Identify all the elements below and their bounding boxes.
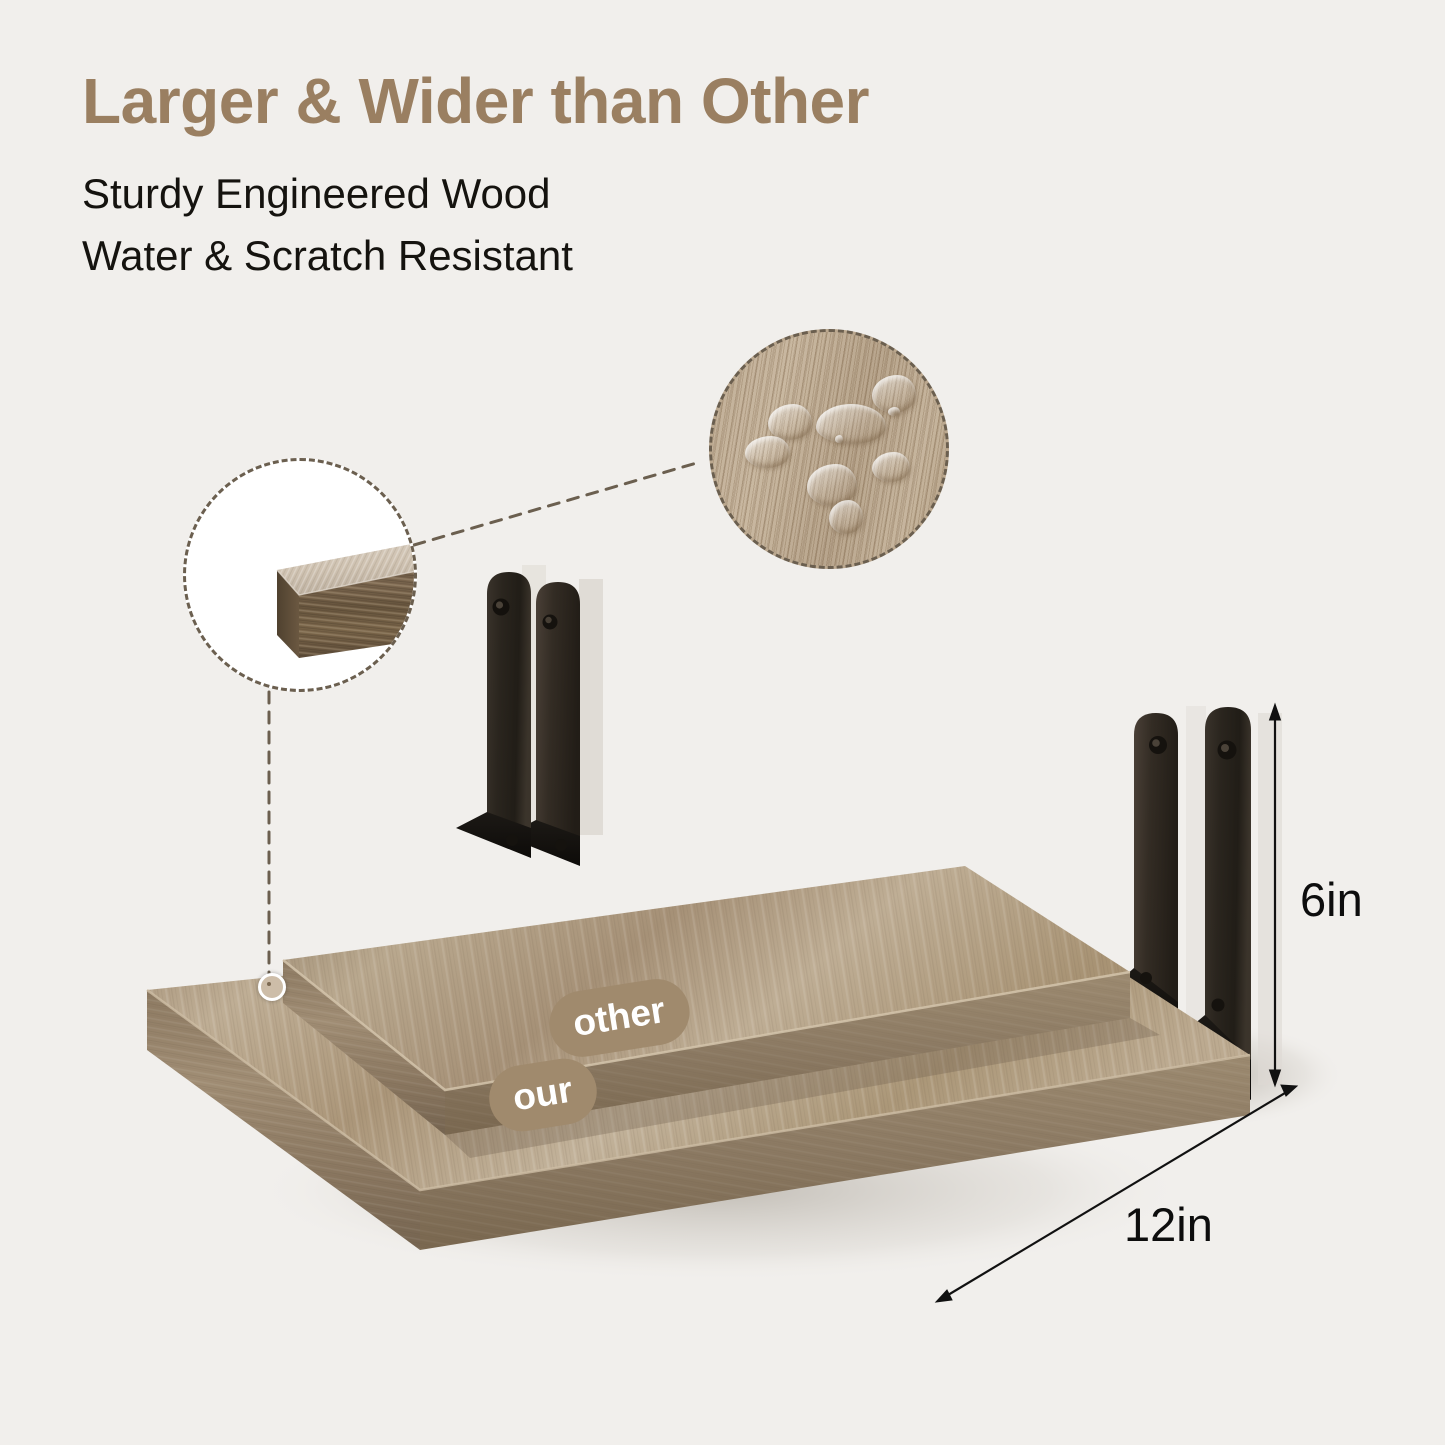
water-droplet [745,436,790,468]
callout-anchor-marker [258,973,286,1001]
water-droplet [816,404,886,444]
bracket-left-front [456,572,531,858]
water-droplet [888,407,900,416]
water-droplet [872,452,910,482]
water-droplet [829,500,863,534]
callout-water-clip [712,332,946,566]
callout-wood-edge-clip [186,461,414,689]
engineered-wood-edge-sample [241,523,414,663]
water-droplet [835,435,843,443]
callout-wood-edge-detail [183,458,417,692]
dimension-label-depth: 12in [1124,1197,1213,1252]
water-droplet [768,404,812,440]
dimension-label-height: 6in [1300,872,1363,927]
callout-water-resistance-detail [709,329,949,569]
bracket-left-pair [456,565,603,866]
product-infographic: Larger & Wider than Other Sturdy Enginee… [0,0,1445,1445]
product-illustration [0,0,1445,1445]
